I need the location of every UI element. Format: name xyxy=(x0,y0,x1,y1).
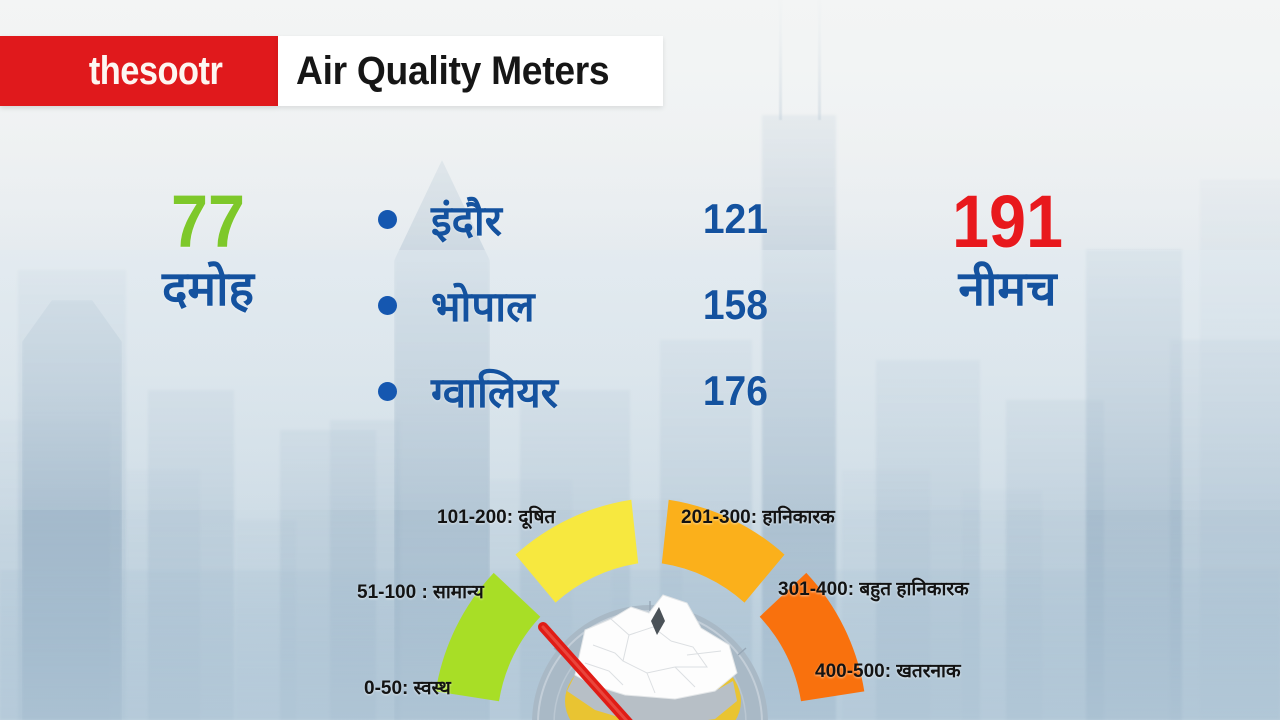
featured-left-city: दमोह xyxy=(108,263,308,317)
featured-left-value: 77 xyxy=(118,186,298,257)
gauge-label-400-500: 400-500: खतरनाक xyxy=(815,657,961,683)
featured-right-city: नीमच xyxy=(900,263,1115,317)
bullet-icon xyxy=(378,210,397,229)
brand-logo-text: thesootr xyxy=(89,49,222,94)
brand-logo[interactable]: thesootr xyxy=(0,36,278,106)
city-name: इंदौर xyxy=(431,191,663,248)
page-title: Air Quality Meters xyxy=(296,49,609,94)
city-value: 121 xyxy=(670,195,768,243)
page-header: thesootr Air Quality Meters xyxy=(0,36,663,106)
featured-reading-left: 77 दमोह xyxy=(108,186,308,317)
city-value: 158 xyxy=(670,281,768,329)
list-item: इंदौर 121 xyxy=(378,176,768,262)
featured-reading-right: 191 नीमच xyxy=(900,186,1115,317)
list-item: भोपाल 158 xyxy=(378,262,768,348)
madhya-pradesh-map-icon xyxy=(567,595,737,720)
city-value: 176 xyxy=(670,367,768,415)
city-name: ग्वालियर xyxy=(431,363,663,420)
page-title-banner: Air Quality Meters xyxy=(278,36,663,106)
city-name: भोपाल xyxy=(431,277,663,334)
gauge-label-51-100: 51-100 : सामान्य xyxy=(357,578,484,604)
bullet-icon xyxy=(378,382,397,401)
city-aqi-list: इंदौर 121 भोपाल 158 ग्वालियर 176 xyxy=(378,176,768,434)
bullet-icon xyxy=(378,296,397,315)
featured-right-value: 191 xyxy=(911,186,1105,257)
gauge-label-201-300: 201-300: हानिकारक xyxy=(681,503,835,529)
gauge-label-0-50: 0-50: स्वस्थ xyxy=(364,674,451,700)
gauge-label-101-200: 101-200: दूषित xyxy=(437,503,555,529)
gauge-label-301-400: 301-400: बहुत हानिकारक xyxy=(778,575,969,601)
list-item: ग्वालियर 176 xyxy=(378,348,768,434)
